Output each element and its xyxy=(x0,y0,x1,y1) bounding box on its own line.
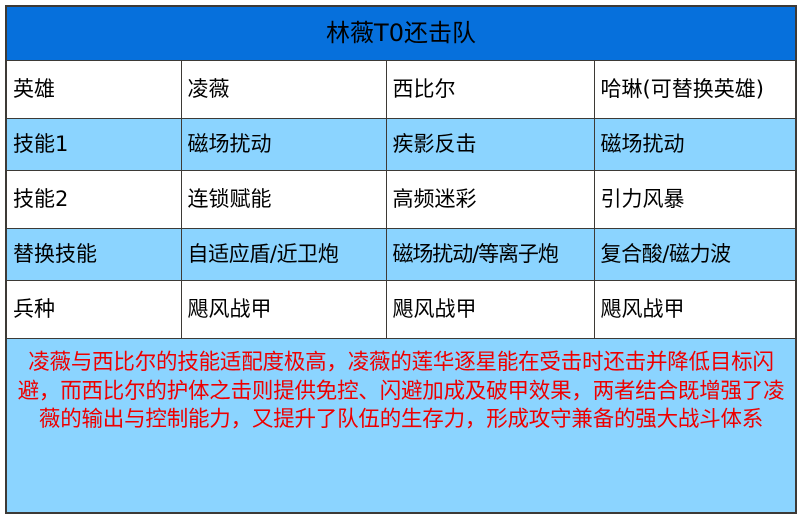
table-row: 技能1 磁场扰动 疾影反击 磁场扰动 xyxy=(6,119,796,171)
replacement-cell-1: 自适应盾/近卫炮 xyxy=(181,229,386,281)
table-note-row: 凌薇与西比尔的技能适配度极高，凌薇的莲华逐星能在受击时还击并降低目标闪避，而西比… xyxy=(6,339,796,514)
troop-cell-3: 飓风战甲 xyxy=(594,281,796,339)
troop-cell-2: 飓风战甲 xyxy=(386,281,594,339)
table-row: 英雄 凌薇 西比尔 哈琳(可替换英雄) xyxy=(6,61,796,119)
table-title-row: 林薇T0还击队 xyxy=(6,6,796,61)
skill1-cell-3: 磁场扰动 xyxy=(594,119,796,171)
row-label-skill-1: 技能1 xyxy=(6,119,181,171)
synergy-note-text: 凌薇与西比尔的技能适配度极高，凌薇的莲华逐星能在受击时还击并降低目标闪避，而西比… xyxy=(15,349,787,435)
table-row: 兵种 飓风战甲 飓风战甲 飓风战甲 xyxy=(6,281,796,339)
skill1-cell-2: 疾影反击 xyxy=(386,119,594,171)
table-row: 替换技能 自适应盾/近卫炮 磁场扰动/等离子炮 复合酸/磁力波 xyxy=(6,229,796,281)
note-cell: 凌薇与西比尔的技能适配度极高，凌薇的莲华逐星能在受击时还击并降低目标闪避，而西比… xyxy=(6,339,796,514)
hero-cell-2: 西比尔 xyxy=(386,61,594,119)
team-composition-table-container: 林薇T0还击队 英雄 凌薇 西比尔 哈琳(可替换英雄) 技能1 磁场扰动 疾影反… xyxy=(5,5,795,481)
row-label-hero: 英雄 xyxy=(6,61,181,119)
skill1-cell-1: 磁场扰动 xyxy=(181,119,386,171)
row-label-troop-type: 兵种 xyxy=(6,281,181,339)
troop-cell-1: 飓风战甲 xyxy=(181,281,386,339)
replacement-cell-3: 复合酸/磁力波 xyxy=(594,229,796,281)
row-label-replacement-skill: 替换技能 xyxy=(6,229,181,281)
table-title: 林薇T0还击队 xyxy=(6,6,796,61)
team-composition-table: 林薇T0还击队 英雄 凌薇 西比尔 哈琳(可替换英雄) 技能1 磁场扰动 疾影反… xyxy=(5,5,797,514)
skill2-cell-2: 高频迷彩 xyxy=(386,171,594,229)
skill2-cell-1: 连锁赋能 xyxy=(181,171,386,229)
hero-cell-3: 哈琳(可替换英雄) xyxy=(594,61,796,119)
skill2-cell-3: 引力风暴 xyxy=(594,171,796,229)
replacement-cell-2: 磁场扰动/等离子炮 xyxy=(386,229,594,281)
row-label-skill-2: 技能2 xyxy=(6,171,181,229)
hero-cell-1: 凌薇 xyxy=(181,61,386,119)
table-row: 技能2 连锁赋能 高频迷彩 引力风暴 xyxy=(6,171,796,229)
